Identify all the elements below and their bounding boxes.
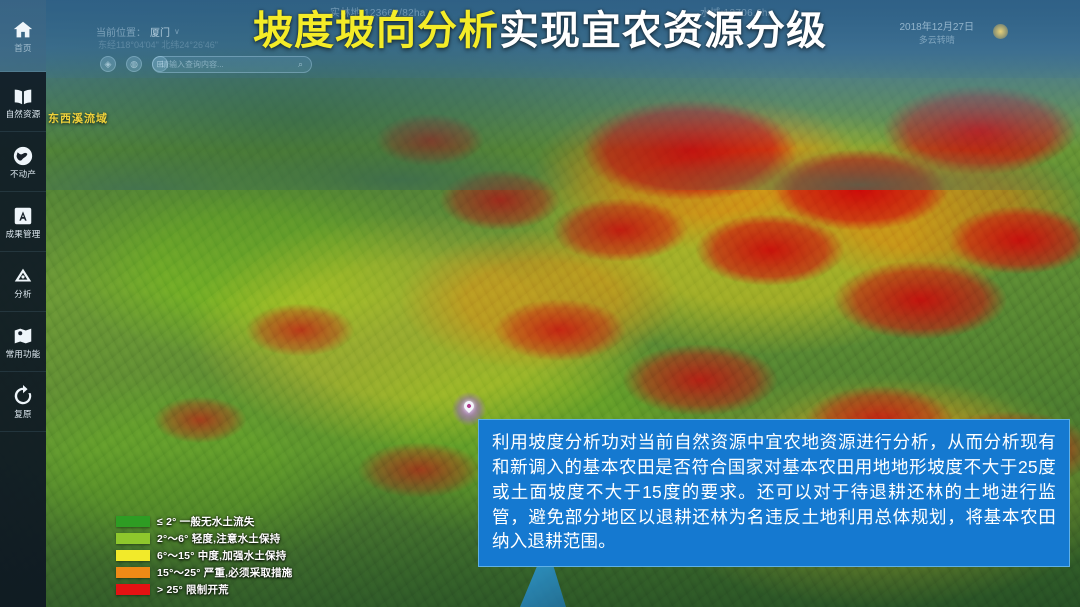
legend-label: 15°～25° 严重,必须采取措施 [157,565,293,580]
legend-label: 2°～6° 轻度,注意水土保持 [157,531,280,546]
description-text: 利用坡度分析功对当前自然资源中宜农地资源进行分析，从而分析现有和新调入的基本农田… [492,430,1056,554]
water-area-stat: 水域:12706.6ha [700,4,774,19]
sidebar-item-label-natural-resources: 自然资源 [6,110,41,119]
top-stats-row: 实林地:123662/82ha 水域:12706.6ha [0,4,1080,20]
sidebar-item-analysis[interactable]: 分析 [0,252,46,312]
legend-row: 6°～15° 中度,加强水土保持 [116,547,293,564]
legend-row: ≤ 2° 一般无水土流失 [116,513,293,530]
analysis-icon [12,265,34,287]
sidebar-item-label-common-functions: 常用功能 [6,350,41,359]
sun-icon [993,24,1008,39]
current-date: 2018年12月27日 [900,22,975,35]
legend-row: > 25° 限制开荒 [116,581,293,598]
sidebar-item-label-analysis: 分析 [14,290,31,299]
legend-label: ≤ 2° 一般无水土流失 [157,514,255,529]
coordinate-readout: 东经118°04'04" 北纬24°26'46" [98,38,218,51]
sidebar-item-label-real-estate: 不动产 [10,170,36,179]
globe-icon[interactable]: ◍ [126,56,142,72]
description-panel: 利用坡度分析功对当前自然资源中宜农地资源进行分析，从而分析现有和新调入的基本农田… [478,419,1070,567]
chevron-down-icon[interactable]: ∨ [174,27,180,36]
legend-label: 6°～15° 中度,加强水土保持 [157,548,286,563]
search-input[interactable]: 请输入查询内容... [161,59,294,70]
location-label: 当前位置： [96,24,146,39]
application-root: 实林地:123662/82ha 水域:12706.6ha 当前位置： 厦门 ∨ … [0,0,1080,607]
top-bar: 实林地:123662/82ha 水域:12706.6ha 当前位置： 厦门 ∨ … [0,0,1080,78]
weather-text: 多云转晴 [900,35,975,46]
refresh-icon [12,385,34,407]
legend-label: > 25° 限制开荒 [157,582,229,597]
sidebar-item-label-restore: 复原 [14,410,31,419]
sidebar-item-label-home: 首页 [14,44,31,53]
legend-row: 15°～25° 严重,必须采取措施 [116,564,293,581]
book-icon [12,85,34,107]
legend-swatch [116,567,150,578]
location-value: 厦门 [150,24,170,39]
datetime-display: 2018年12月27日 多云转晴 [900,22,975,46]
legend-swatch [116,584,150,595]
sidebar-item-common-functions[interactable]: 常用功能 [0,312,46,372]
sidebar-nav: 首页 自然资源 不动产 成果管理 分析 [0,0,46,607]
legend-row: 2°～6° 轻度,注意水土保持 [116,530,293,547]
sidebar-item-natural-resources[interactable]: 自然资源 [0,72,46,132]
sidebar-item-home[interactable]: 首页 [0,0,46,72]
search-box[interactable]: 请输入查询内容... ⌕ [152,56,312,73]
slope-legend: ≤ 2° 一般无水土流失 2°～6° 轻度,注意水土保持 6°～15° 中度,加… [116,513,293,598]
sidebar-item-label-results-management: 成果管理 [6,230,41,239]
legend-swatch [116,516,150,527]
forest-area-stat: 实林地:123662/82ha [330,4,426,19]
sidebar-item-real-estate[interactable]: 不动产 [0,132,46,192]
globe-icon [12,145,34,167]
search-icon[interactable]: ⌕ [298,59,303,70]
legend-swatch [116,550,150,561]
layers-icon[interactable]: ◈ [100,56,116,72]
sidebar-item-restore[interactable]: 复原 [0,372,46,432]
map-area-label: 东西溪流域 [48,110,108,126]
sidebar-item-results-management[interactable]: 成果管理 [0,192,46,252]
home-icon [12,19,34,41]
archive-icon [12,205,34,227]
current-location[interactable]: 当前位置： 厦门 ∨ [96,24,180,39]
legend-swatch [116,533,150,544]
map-pin-icon [12,325,34,347]
